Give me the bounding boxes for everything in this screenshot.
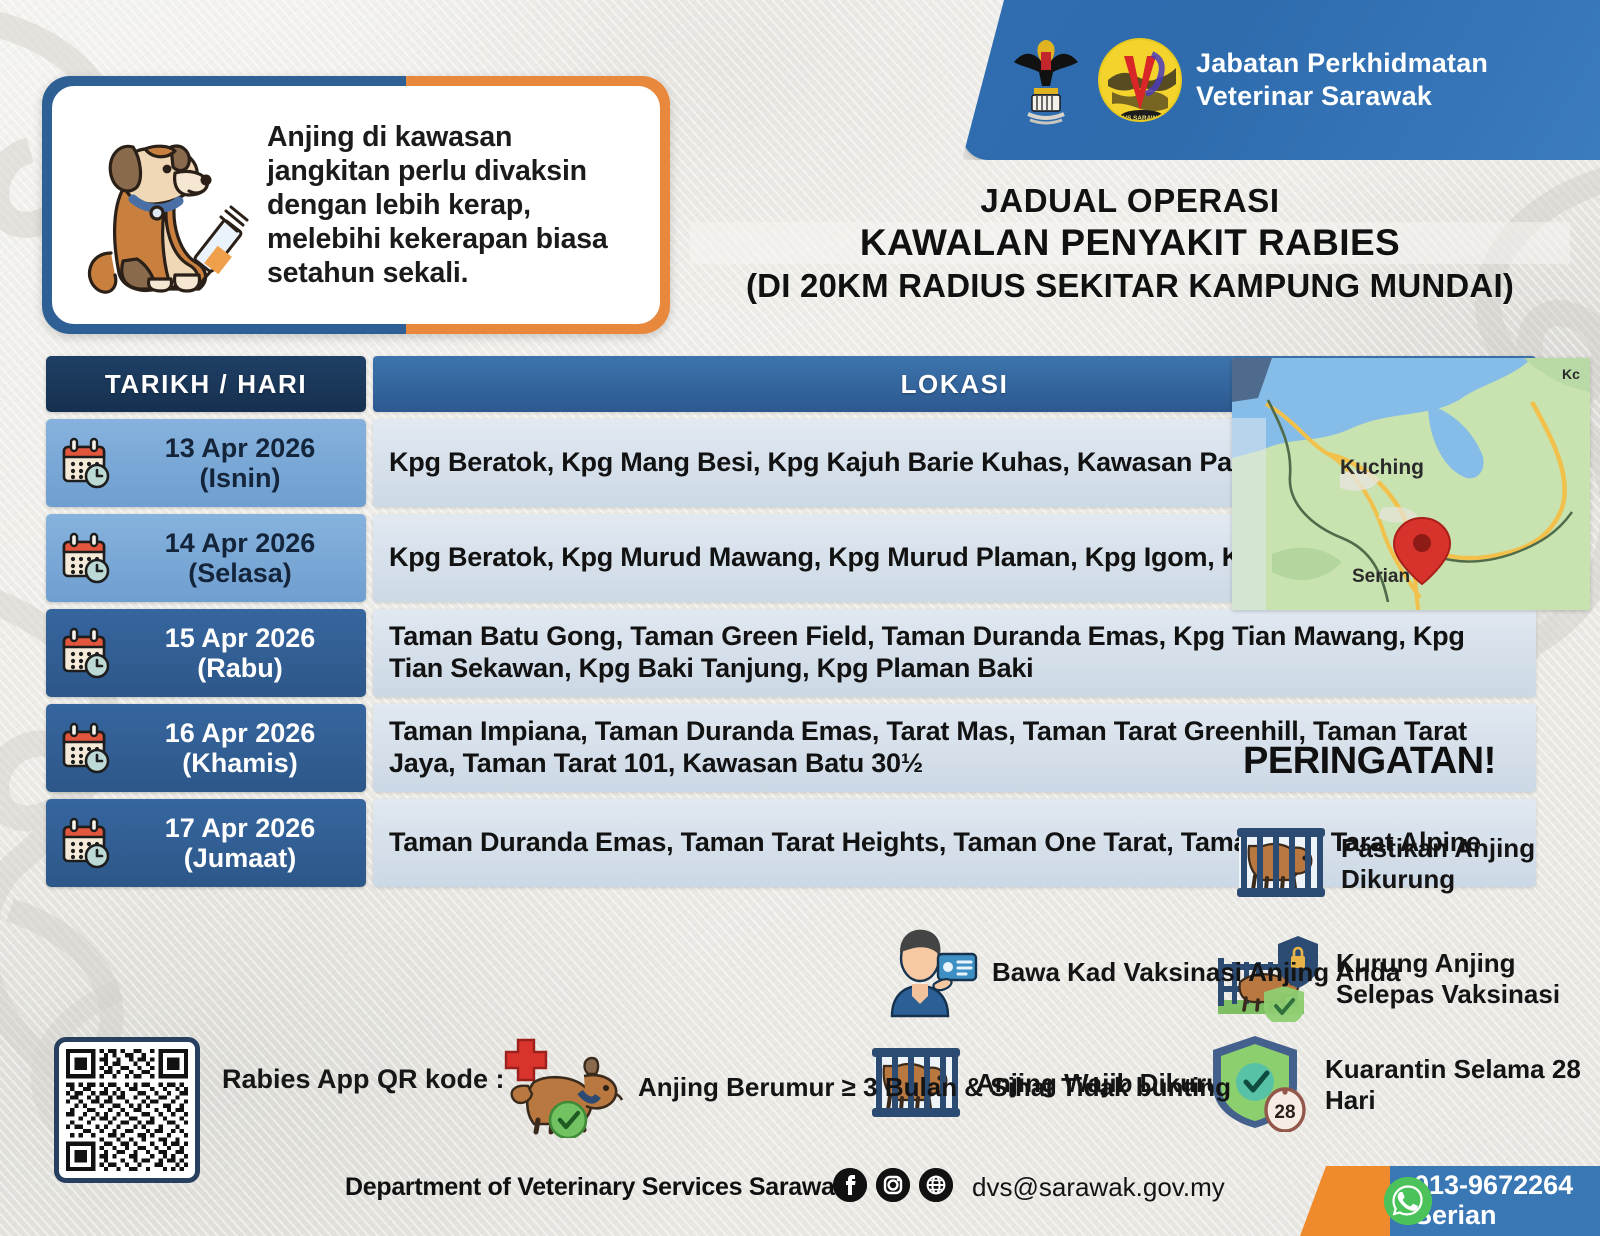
header-branding: DVS SARAWAK Jabatan Perkhidmatan Veterin… xyxy=(962,0,1600,160)
whatsapp-icon xyxy=(1384,1177,1432,1225)
map-graphic xyxy=(1232,358,1590,610)
whatsapp-place: Serian xyxy=(1414,1201,1573,1231)
title-line-2: KAWALAN PENYAKIT RABIES xyxy=(690,222,1570,264)
title-line-1: JADUAL OPERASI xyxy=(690,182,1570,220)
date-value: 16 Apr 2026 xyxy=(165,718,316,748)
day-value: (Khamis) xyxy=(124,748,356,778)
poster-title: JADUAL OPERASI KAWALAN PENYAKIT RABIES (… xyxy=(690,182,1570,305)
vaccination-advice-callout: Anjing di kawasan jangkitan perlu divaks… xyxy=(42,76,670,334)
warning-label: Anjing Berumur ≥ 3 Bulan & Sihat Tidak b… xyxy=(638,1072,1231,1102)
facebook-icon[interactable] xyxy=(833,1168,867,1202)
warning-item-dog-age-health: Anjing Berumur ≥ 3 Bulan & Sihat Tidak b… xyxy=(500,1032,1231,1143)
warning-item-quarantine: 28 Kuarantin Selama 28 Hari xyxy=(1207,1032,1600,1137)
department-name: Department of Veterinary Services Sarawa… xyxy=(345,1173,848,1202)
whatsapp-text: 013-9672264 Serian xyxy=(1414,1171,1573,1230)
calendar-clock-icon xyxy=(60,532,112,584)
location-map-inset: KuchingSerianKc xyxy=(1232,358,1590,610)
warning-label: Pastikan Anjing Dikurung xyxy=(1341,833,1600,893)
dvs-sarawak-logo-icon: DVS SARAWAK xyxy=(1098,38,1182,122)
svg-text:28: 28 xyxy=(1274,1102,1295,1123)
warning-label: Kuarantin Selama 28 Hari xyxy=(1325,1054,1600,1114)
date-text: 15 Apr 2026(Rabu) xyxy=(124,623,356,683)
date-cell: 17 Apr 2026(Jumaat) xyxy=(46,799,366,887)
logo-caption: DVS SARAWAK xyxy=(1118,115,1166,122)
person-with-vaccination-card-icon xyxy=(880,922,980,1023)
date-text: 14 Apr 2026(Selasa) xyxy=(124,528,356,588)
dog-with-syringe-icon xyxy=(71,103,261,308)
date-cell: 13 Apr 2026(Isnin) xyxy=(46,419,366,507)
qr-code-icon[interactable] xyxy=(54,1037,200,1183)
map-label: Kuching xyxy=(1340,456,1424,480)
location-cell: Taman Batu Gong, Taman Green Field, Tama… xyxy=(373,609,1536,697)
warning-heading: PERINGATAN! xyxy=(1243,740,1496,783)
location-text: Kpg Beratok, Kpg Murud Mawang, Kpg Murud… xyxy=(389,542,1329,574)
day-value: (Rabu) xyxy=(124,653,356,683)
warning-item-vaccination-card: Bawa Kad Vaksinasi Anjing Anda xyxy=(880,922,1400,1023)
day-value: (Isnin) xyxy=(124,463,356,493)
date-value: 13 Apr 2026 xyxy=(165,433,316,463)
date-value: 17 Apr 2026 xyxy=(165,813,316,843)
whatsapp-number: 013-9672264 xyxy=(1414,1171,1573,1201)
header-label-date: TARIKH / HARI xyxy=(105,369,307,400)
title-line-3: (DI 20KM RADIUS SEKITAR KAMPUNG MUNDAI) xyxy=(690,267,1570,305)
day-value: (Selasa) xyxy=(124,558,356,588)
warning-item-caged-dog: Pastikan Anjing Dikurung xyxy=(1233,818,1600,909)
org-name-line1: Jabatan Perkhidmatan xyxy=(1196,47,1488,80)
instagram-icon[interactable] xyxy=(876,1168,910,1202)
date-text: 16 Apr 2026(Khamis) xyxy=(124,718,356,778)
date-cell: 16 Apr 2026(Khamis) xyxy=(46,704,366,792)
whatsapp-contact-badge[interactable]: 013-9672264 Serian xyxy=(1300,1166,1600,1236)
header-cell-date: TARIKH / HARI xyxy=(46,356,366,412)
caged-dog-icon xyxy=(1233,818,1329,909)
date-text: 13 Apr 2026(Isnin) xyxy=(124,433,356,493)
website-globe-icon[interactable] xyxy=(919,1168,953,1202)
date-value: 14 Apr 2026 xyxy=(165,528,316,558)
qr-code-graphic xyxy=(66,1049,188,1171)
table-row: 15 Apr 2026(Rabu)Taman Batu Gong, Taman … xyxy=(46,609,1536,697)
date-text: 17 Apr 2026(Jumaat) xyxy=(124,813,356,873)
calendar-clock-icon xyxy=(60,627,112,679)
sarawak-coat-of-arms-icon xyxy=(1008,32,1084,128)
calendar-clock-icon xyxy=(60,817,112,869)
day-value: (Jumaat) xyxy=(124,843,356,873)
location-text: Taman Batu Gong, Taman Green Field, Tama… xyxy=(389,621,1520,685)
healthy-dog-cross-check-icon xyxy=(500,1032,626,1143)
org-name-line2: Veterinar Sarawak xyxy=(1196,80,1488,113)
callout-text: Anjing di kawasan jangkitan perlu divaks… xyxy=(267,120,643,291)
date-value: 15 Apr 2026 xyxy=(165,623,316,653)
date-cell: 15 Apr 2026(Rabu) xyxy=(46,609,366,697)
date-cell: 14 Apr 2026(Selasa) xyxy=(46,514,366,602)
poster-canvas: DVS SARAWAK Jabatan Perkhidmatan Veterin… xyxy=(0,0,1600,1236)
map-label: Kc xyxy=(1562,366,1580,382)
org-name: Jabatan Perkhidmatan Veterinar Sarawak xyxy=(1196,47,1488,113)
header-label-location: LOKASI xyxy=(901,369,1009,400)
email-address[interactable]: dvs@sarawak.gov.my xyxy=(972,1172,1225,1203)
map-label: Serian xyxy=(1352,566,1410,588)
calendar-clock-icon xyxy=(60,437,112,489)
qr-code-label: Rabies App QR kode : xyxy=(222,1063,505,1097)
warning-label: Bawa Kad Vaksinasi Anjing Anda xyxy=(992,957,1400,987)
calendar-clock-icon xyxy=(60,722,112,774)
social-links xyxy=(833,1168,953,1202)
